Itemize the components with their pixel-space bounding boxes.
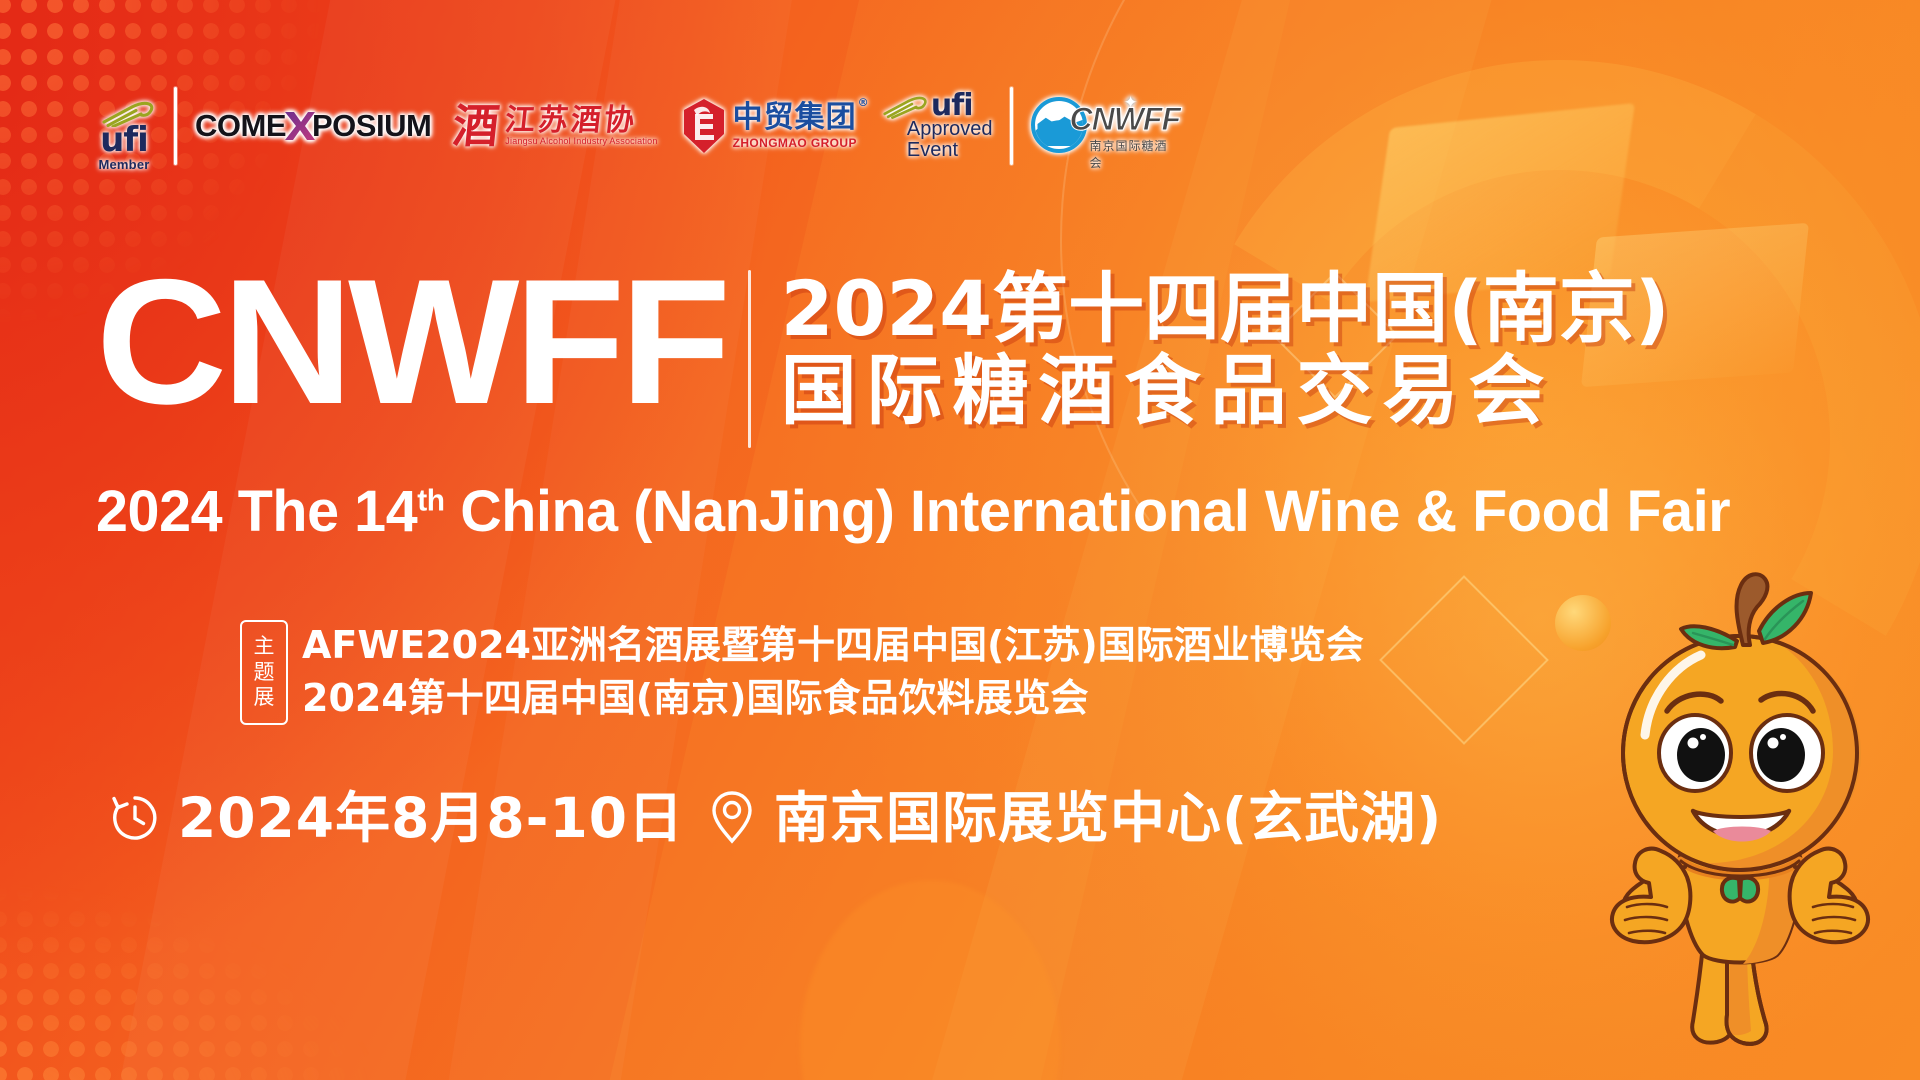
ufi-member-label: Member: [98, 157, 149, 172]
title-english-suffix: China (NanJing) International Wine & Foo…: [445, 479, 1731, 544]
theme-tag-badge: 主 题 展: [240, 620, 288, 725]
zhongmao-english-name: ZHONGMAO GROUP: [733, 136, 857, 150]
title-chinese-block: 2024第十四届中国(南京) 国际糖酒食品交易会: [781, 262, 1670, 432]
event-location-item: 南京国际展览中心(玄武湖): [706, 790, 1442, 846]
event-location-text: 南京国际展览中心(玄武湖): [774, 791, 1442, 846]
ufi-approved-line-2: Event: [907, 140, 958, 161]
logo-cnwff[interactable]: ✦ CNWFF 南京国际糖酒会: [1031, 80, 1179, 172]
theme-tag-char-1: 主: [254, 635, 275, 659]
banner-root: ufi Member COME: [0, 0, 1920, 1080]
ufi-approved-line-1: Approved: [907, 119, 993, 140]
zhongmao-chinese-name: 中贸集团®: [733, 102, 857, 134]
logo-ufi-member[interactable]: ufi Member: [92, 80, 156, 172]
comexposium-part-2: POSIUM: [312, 108, 431, 144]
zhongmao-emblem-icon: [682, 98, 726, 154]
comexposium-x-icon: [282, 109, 316, 143]
jiangsu-calligraphy-mark: 酒: [451, 103, 502, 149]
logo-zhongmao-group[interactable]: 中贸集团® ZHONGMAO GROUP: [682, 80, 857, 172]
background-diamond-outline-1: [1379, 575, 1549, 745]
ufi-wordmark: ufi: [100, 124, 148, 156]
map-pin-icon: [706, 790, 758, 846]
theme-line-1: AFWE2024亚洲名酒展暨第十四届中国(江苏)国际酒业博览会: [302, 620, 1364, 671]
main-title-row: CNWFF 2024第十四届中国(南京) 国际糖酒食品交易会: [96, 262, 1670, 448]
mascot-illustration: [1575, 545, 1905, 1065]
clock-icon: [108, 791, 162, 845]
cnwff-logo-text: CNWFF: [1069, 101, 1180, 138]
cnwff-logo-chinese: 南京国际糖酒会: [1089, 137, 1179, 171]
logo-jiangsu-alcohol-association[interactable]: 酒 江苏酒协 Jiangsu Alcohol Industry Associat…: [453, 80, 657, 172]
title-english: 2024 The 14th China (NanJing) Internatio…: [96, 478, 1730, 545]
logo-divider-1: [174, 87, 177, 165]
theme-exhibitions: 主 题 展 AFWE2024亚洲名酒展暨第十四届中国(江苏)国际酒业博览会 20…: [240, 620, 1364, 725]
jiangsu-chinese-name: 江苏酒协: [504, 105, 660, 137]
theme-tag-char-3: 展: [254, 686, 275, 710]
logo-ufi-approved-event[interactable]: ufi Approved Event: [883, 80, 993, 172]
comexposium-part-1: COME: [195, 108, 286, 144]
orange-fruit-mascot: [1575, 545, 1905, 1065]
halftone-dots-bottom-left: [0, 880, 386, 1080]
title-english-prefix: 2024 The 14: [96, 479, 417, 544]
title-chinese-line-2: 国际糖酒食品交易会: [781, 350, 1670, 432]
jiangsu-english-name: Jiangsu Alcohol Industry Association: [505, 137, 657, 147]
event-date-text: 2024年8月8-10日: [178, 791, 684, 846]
event-date-item: 2024年8月8-10日: [108, 791, 684, 846]
theme-tag-char-2: 题: [254, 661, 275, 685]
theme-line-2: 2024第十四届中国(南京)国际食品饮料展览会: [302, 673, 1364, 724]
background-orange-blob: [800, 880, 1060, 1080]
logo-comexposium[interactable]: COME POSIUM: [195, 80, 431, 172]
title-chinese-line-1: 2024第十四届中国(南京): [781, 268, 1670, 350]
ufi-approved-wordmark: ufi: [931, 92, 973, 119]
logo-divider-2: [1010, 87, 1013, 165]
partner-logo-bar: ufi Member COME: [92, 80, 1179, 172]
event-info-row: 2024年8月8-10日 南京国际展览中心(玄武湖): [108, 790, 1442, 846]
title-english-ordinal: th: [417, 485, 444, 518]
registered-trademark-icon: ®: [858, 97, 870, 109]
title-divider: [748, 270, 751, 448]
ufi-approved-swoosh-icon: [883, 95, 929, 119]
title-acronym: CNWFF: [96, 262, 726, 422]
